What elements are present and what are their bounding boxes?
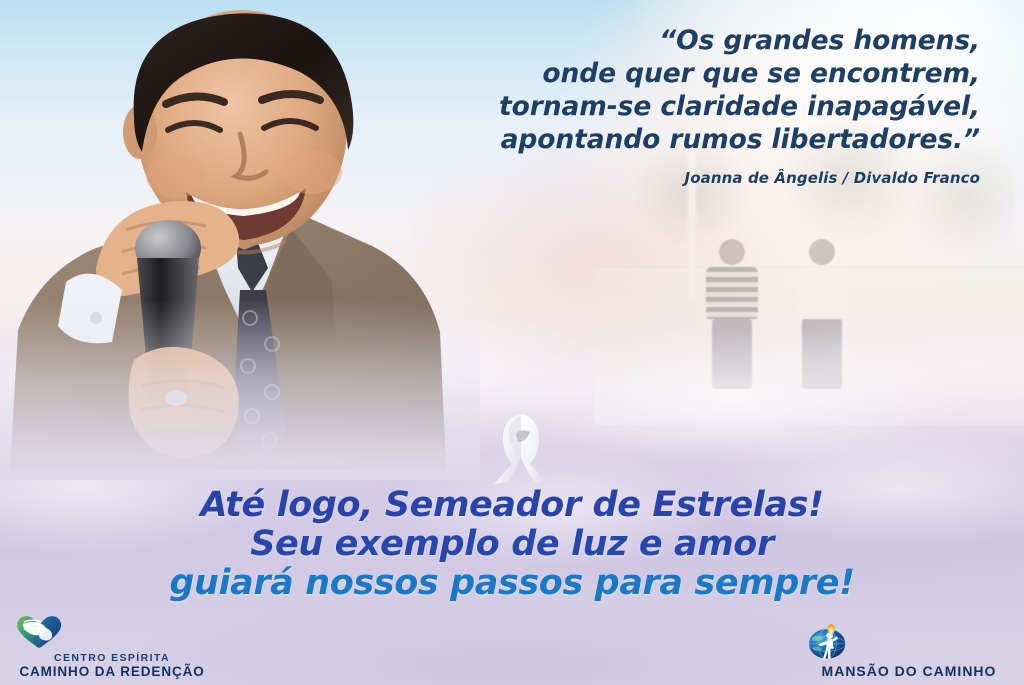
- logo-left-line-2: CAMINHO DA REDENÇÃO: [12, 664, 212, 679]
- shirt-cuff: [58, 274, 122, 344]
- logo-mansao-do-caminho: MANSÃO DO CAMINHO: [804, 624, 1014, 679]
- quote-line-1: “Os grandes homens,: [420, 24, 980, 57]
- quote-line-3: tornam-se claridade inapagável,: [420, 90, 980, 123]
- logo-centro-espirita: CENTRO ESPÍRITA CAMINHO DA REDENÇÃO: [12, 612, 212, 679]
- quote-attribution: Joanna de Ângelis / Divaldo Franco: [420, 169, 980, 187]
- memorial-poster: “Os grandes homens, onde quer que se enc…: [0, 0, 1024, 685]
- ring: [165, 390, 187, 406]
- logo-left-line-1: CENTRO ESPÍRITA: [12, 652, 212, 664]
- farewell-message: Até logo, Semeador de Estrelas! Seu exem…: [0, 486, 1024, 603]
- message-line-2: Seu exemplo de luz e amor: [0, 525, 1024, 564]
- globe-figure-icon: [804, 624, 1014, 662]
- quote-line-2: onde quer que se encontrem,: [420, 57, 980, 90]
- mourning-ribbon-icon: [482, 408, 560, 488]
- message-line-1: Até logo, Semeador de Estrelas!: [0, 486, 1024, 525]
- portrait-photo: [0, 0, 470, 470]
- quote-block: “Os grandes homens, onde quer que se enc…: [420, 24, 980, 187]
- quote-line-4: apontando rumos libertadores.”: [420, 123, 980, 156]
- message-line-3: guiará nossos passos para sempre!: [0, 564, 1024, 603]
- logo-right-line-1: MANSÃO DO CAMINHO: [804, 664, 1014, 679]
- heart-hands-icon: [12, 612, 212, 650]
